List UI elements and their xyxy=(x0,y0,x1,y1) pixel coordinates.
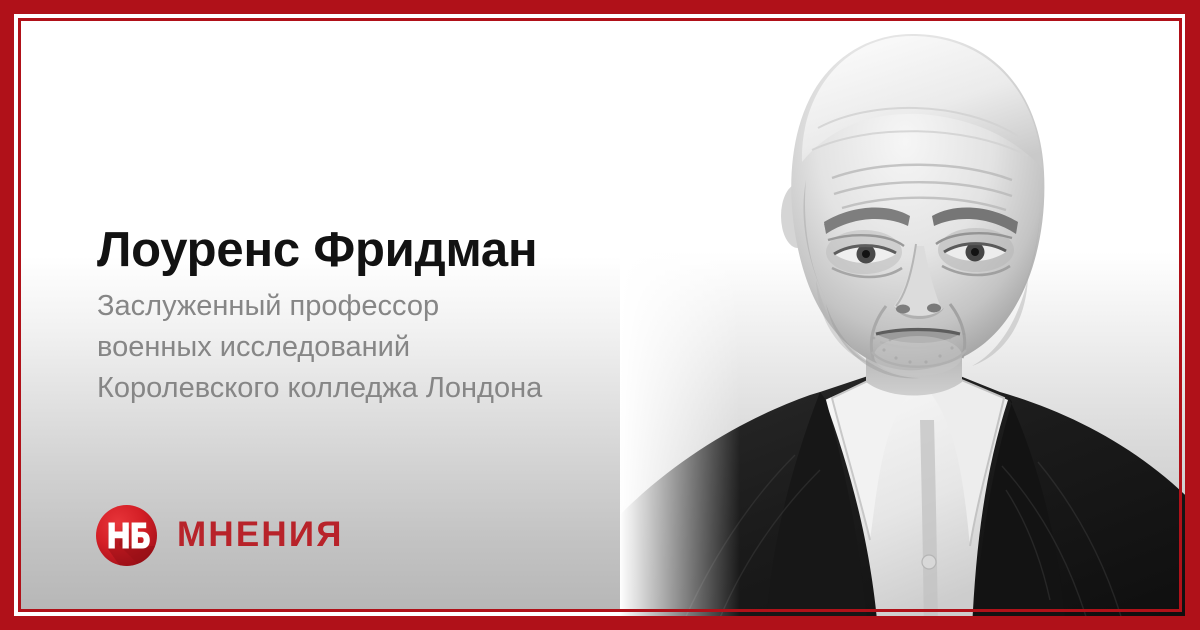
author-name: Лоуренс Фридман xyxy=(97,222,737,278)
author-role: Заслуженный профессор военных исследован… xyxy=(97,286,737,409)
brand-word: МНЕНИЯ xyxy=(177,517,344,554)
brand-lockup[interactable]: МНЕНИЯ xyxy=(96,504,344,566)
author-role-line-1: Заслуженный профессор xyxy=(97,286,737,327)
author-role-line-2: военных исследований xyxy=(97,327,737,368)
author-text-block: Лоуренс Фридман Заслуженный профессор во… xyxy=(97,222,737,409)
author-role-line-3: Королевского колледжа Лондона xyxy=(97,368,737,409)
author-opinion-card: Лоуренс Фридман Заслуженный профессор во… xyxy=(0,0,1200,630)
nv-circle-logo-icon xyxy=(96,505,157,566)
